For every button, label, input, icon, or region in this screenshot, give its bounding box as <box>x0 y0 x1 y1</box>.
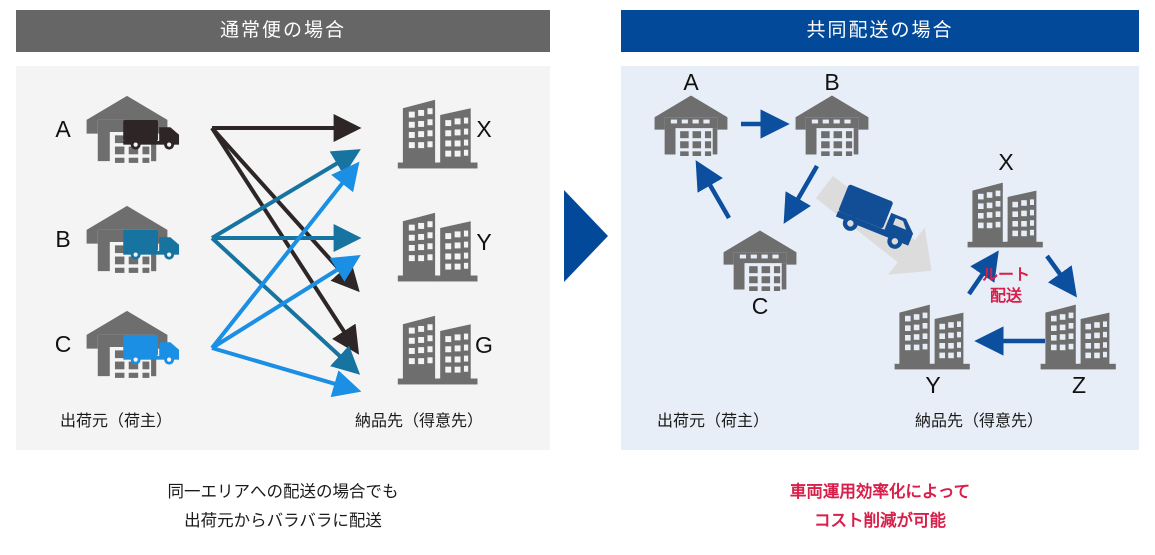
route-arrow-c-g <box>212 348 356 390</box>
pickup-arrow-b-c <box>787 166 817 218</box>
right-caption-line-2: コスト削減が可能 <box>621 507 1139 536</box>
left-panel-caption: 同一エリアへの配送の場合でも 出荷元からバラバラに配送 <box>16 478 550 536</box>
left-origin-role-label: 出荷元（荷主） <box>60 407 172 431</box>
destination-label-g: G <box>471 332 497 359</box>
left-caption-line-1: 同一エリアへの配送の場合でも <box>16 478 550 507</box>
transition-arrow <box>562 188 610 284</box>
delivery-building-y <box>895 305 970 370</box>
destination-building-x <box>398 100 478 169</box>
origin-label-b: B <box>50 226 76 253</box>
route-label-line-1: ルート <box>966 265 1046 286</box>
delivery-arrow-x-z <box>1047 256 1073 292</box>
pickup-arrow-c-a <box>699 166 729 218</box>
pickup-warehouse-c <box>724 231 797 291</box>
right-panel-caption: 車両運用効率化によって コスト削減が可能 <box>621 478 1139 536</box>
delivery-label-z: Z <box>1066 372 1092 399</box>
right-destination-role-label: 納品先（得意先） <box>915 407 1043 431</box>
left-destination-role-label: 納品先（得意先） <box>355 407 483 431</box>
left-panel-body: A B C X Y G 出荷元（荷主） 納品先（得意先） <box>16 66 550 450</box>
left-panel-graphics <box>16 66 550 450</box>
pickup-label-a: A <box>678 69 704 96</box>
right-panel-graphics <box>621 66 1139 450</box>
pickup-warehouse-b <box>796 96 869 156</box>
delivery-building-x <box>968 183 1043 248</box>
pickup-warehouse-a <box>655 96 728 156</box>
pickup-label-b: B <box>819 69 845 96</box>
right-panel-header: 共同配送の場合 <box>621 10 1139 52</box>
destination-building-g <box>398 316 478 385</box>
destination-label-y: Y <box>471 229 497 256</box>
right-origin-role-label: 出荷元（荷主） <box>657 407 769 431</box>
route-arrow-a-y <box>212 128 356 288</box>
diagram-canvas: 通常便の場合 <box>0 0 1155 555</box>
delivery-building-z <box>1041 305 1116 370</box>
right-caption-line-1: 車両運用効率化によって <box>621 478 1139 507</box>
left-caption-line-2: 出荷元からバラバラに配送 <box>16 507 550 536</box>
left-panel-header: 通常便の場合 <box>16 10 550 52</box>
route-label-line-2: 配送 <box>966 286 1046 307</box>
destination-building-y <box>398 213 478 282</box>
pickup-label-c: C <box>747 293 773 320</box>
origin-label-a: A <box>50 116 76 143</box>
origin-label-c: C <box>50 331 76 358</box>
delivery-label-x: X <box>993 149 1019 176</box>
route-arrow-c-y <box>212 258 356 348</box>
right-panel-body: A B C X Y Z ルート 配送 出荷元（荷主） 納品先（得意先） <box>621 66 1139 450</box>
destination-label-x: X <box>471 116 497 143</box>
delivery-label-y: Y <box>920 372 946 399</box>
